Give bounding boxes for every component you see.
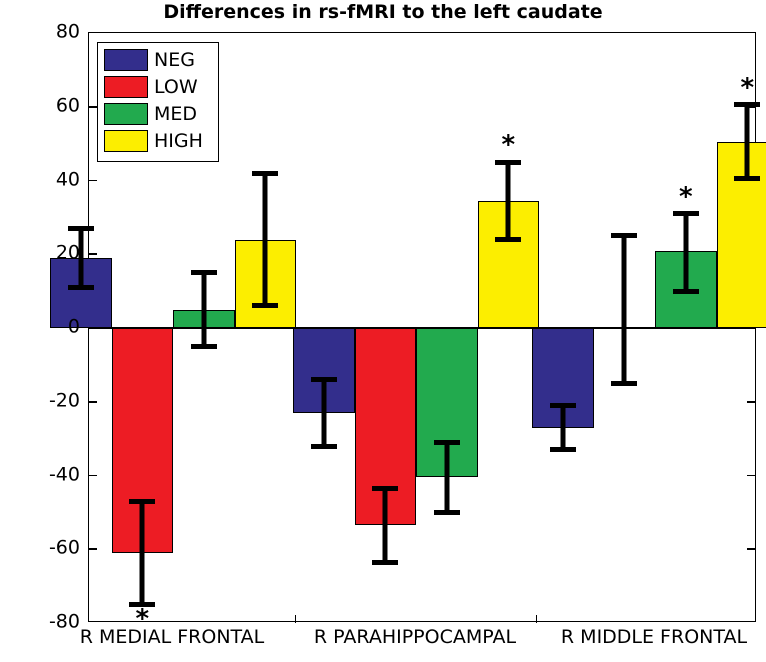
error-bar-stem	[560, 405, 565, 449]
error-bar-stem	[683, 214, 688, 291]
error-bar-cap-upper	[372, 486, 398, 491]
error-bar-cap-lower	[550, 447, 576, 452]
y-tick-label: 0	[10, 318, 80, 337]
error-bar-stem	[444, 442, 449, 512]
y-tick-mark	[89, 106, 97, 108]
x-axis-group-label: R MEDIAL FRONTAL	[80, 626, 265, 648]
y-tick-label: 20	[10, 244, 80, 263]
error-bar-cap-upper	[191, 270, 217, 275]
significance-star: *	[740, 75, 754, 101]
y-tick-mark	[89, 401, 97, 403]
error-bar-cap-lower	[434, 510, 460, 515]
error-bar-stem	[263, 173, 268, 306]
error-bar-cap-upper	[673, 211, 699, 216]
error-bar-cap-upper	[611, 233, 637, 238]
legend: NEGLOWMEDHIGH	[97, 42, 219, 162]
page-title: Differences in rs-fMRI to the left cauda…	[0, 1, 766, 23]
y-tick-mark	[89, 180, 97, 182]
legend-swatch-low	[104, 76, 148, 98]
error-bar-cap-lower	[311, 444, 337, 449]
legend-item-neg[interactable]: NEG	[104, 48, 195, 72]
error-bar-cap-lower	[673, 289, 699, 294]
y-tick-mark	[747, 548, 755, 550]
y-tick-mark	[89, 548, 97, 550]
y-tick-mark	[747, 475, 755, 477]
legend-item-low[interactable]: LOW	[104, 75, 198, 99]
y-tick-label: -60	[10, 539, 80, 558]
x-tick-mark	[536, 615, 538, 623]
significance-star: *	[679, 184, 693, 210]
error-bar-cap-lower	[611, 381, 637, 386]
y-tick-label: 60	[10, 96, 80, 115]
legend-label: MED	[154, 105, 197, 124]
plot-area: **** NEGLOWMEDHIGH	[88, 32, 756, 622]
y-tick-mark	[89, 253, 97, 255]
figure-canvas: Differences in rs-fMRI to the left cauda…	[0, 0, 766, 662]
legend-swatch-high	[104, 130, 148, 152]
error-bar-stem	[140, 501, 145, 604]
y-tick-label: -80	[10, 613, 80, 632]
y-tick-mark	[89, 475, 97, 477]
error-bar-stem	[321, 380, 326, 446]
error-bar-cap-lower	[252, 303, 278, 308]
error-bar-cap-upper	[252, 171, 278, 176]
legend-item-high[interactable]: HIGH	[104, 129, 203, 153]
error-bar-cap-upper	[550, 403, 576, 408]
error-bar-stem	[506, 162, 511, 239]
bar-high-3	[717, 142, 766, 328]
error-bar-cap-lower	[372, 560, 398, 565]
error-bar-stem	[745, 105, 750, 179]
zero-baseline	[89, 327, 755, 329]
error-bar-cap-upper	[734, 102, 760, 107]
y-tick-label: -40	[10, 465, 80, 484]
legend-label: LOW	[154, 78, 198, 97]
legend-label: NEG	[154, 51, 195, 70]
error-bar-cap-lower	[191, 344, 217, 349]
significance-star: *	[501, 132, 515, 158]
error-bar-stem	[201, 273, 206, 347]
y-tick-label: 40	[10, 170, 80, 189]
y-tick-label: 80	[10, 23, 80, 42]
x-axis-group-label: R PARAHIPPOCAMPAL	[314, 626, 516, 648]
error-bar-stem	[622, 236, 627, 384]
error-bar-cap-upper	[434, 440, 460, 445]
y-tick-label: -20	[10, 391, 80, 410]
legend-swatch-med	[104, 103, 148, 125]
error-bar-cap-lower	[68, 285, 94, 290]
error-bar-cap-upper	[129, 499, 155, 504]
legend-label: HIGH	[154, 132, 203, 151]
legend-item-med[interactable]: MED	[104, 102, 197, 126]
error-bar-cap-upper	[495, 160, 521, 165]
x-tick-mark	[295, 615, 297, 623]
x-axis-group-label: R MIDDLE FRONTAL	[561, 626, 747, 648]
error-bar-cap-lower	[495, 237, 521, 242]
error-bar-cap-upper	[68, 226, 94, 231]
y-tick-mark	[747, 401, 755, 403]
error-bar-cap-lower	[734, 176, 760, 181]
legend-swatch-neg	[104, 49, 148, 71]
error-bar-cap-upper	[311, 377, 337, 382]
error-bar-stem	[383, 488, 388, 562]
